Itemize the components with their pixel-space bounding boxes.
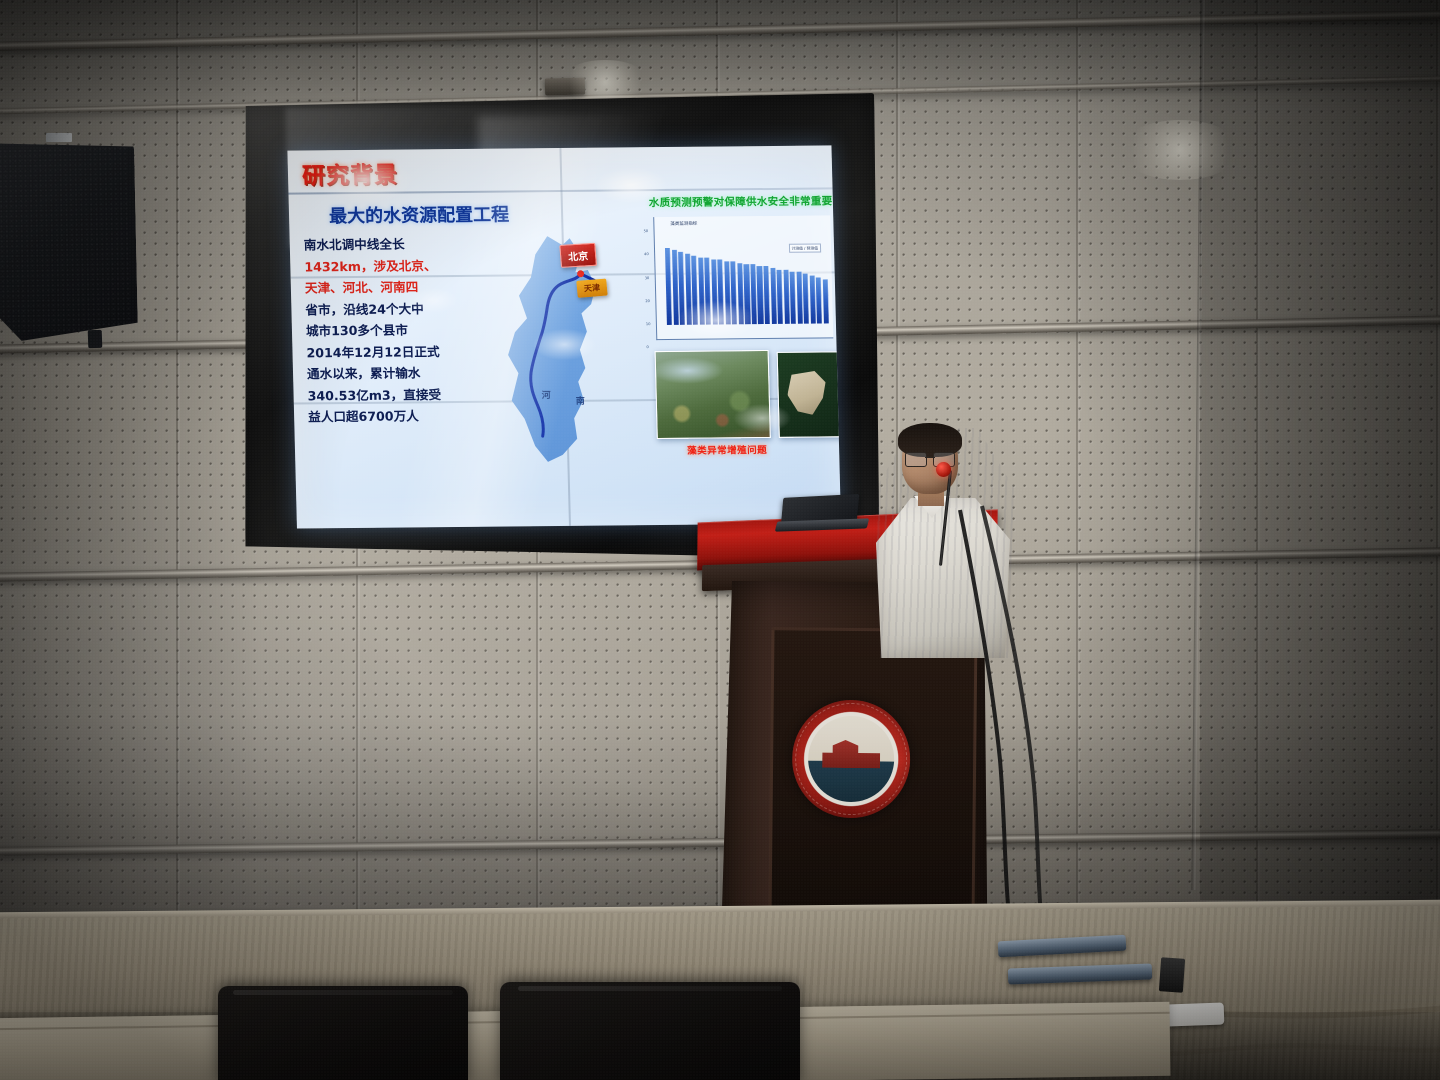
chart-heading: 水质预测预警对保障供水安全非常重要 [649,193,839,210]
chart-bar [790,272,796,324]
slide-subtitle: 最大的水资源配置工程 [329,201,510,229]
glasses-bridge [925,457,935,458]
algae-field-photo [655,350,771,439]
chart-bar [816,277,822,323]
body-line: 通水以来，累计输水 [307,362,504,385]
body-line: 天津、河北、河南四 [305,276,502,299]
chart-y-tick: 10 [646,322,651,326]
power-plug [1159,957,1185,993]
wall-speaker [0,141,138,342]
chart-bar [763,266,770,324]
presentation-photo-scene: 研究背景 最大的水资源配置工程 南水北调中线全长 1432km，涉及北京、 天津… [0,0,1440,1080]
chart-y-tick: 20 [645,299,650,303]
speaker-brand-logo [46,133,72,142]
chart-y-tick: 40 [644,253,649,257]
body-line: 1432km，涉及北京、 [304,254,501,277]
chart-inner-title: 藻类监测指标 [670,221,697,227]
projection-display: 研究背景 最大的水资源配置工程 南水北调中线全长 1432km，涉及北京、 天津… [234,93,886,565]
ceiling-fixture [545,78,585,96]
chart-y-tick: 50 [644,229,649,233]
map-landmass [498,235,628,464]
chart-bar [809,276,815,324]
speaker-grille [0,147,132,336]
body-line: 南水北调中线全长 [304,233,501,256]
map-label-hebei: 河 [541,388,550,401]
audience-chair [500,982,800,1080]
chart-y-axis: 50403020100 [654,215,830,217]
map-label-beijing: 北京 [559,243,597,268]
chair-highlight [233,990,453,995]
slide-body-text: 南水北调中线全长 1432km，涉及北京、 天津、河北、河南四 省市，沿线24个… [304,233,505,428]
speaker-wall-mount [88,330,103,348]
emblem-building-icon [822,740,880,769]
body-line: 城市130多个县市 [306,319,503,342]
chair-highlight [518,986,782,991]
chart-bar [711,259,718,324]
chart-bar [770,268,777,324]
presentation-slide: 研究背景 最大的水资源配置工程 南水北调中线全长 1432km，涉及北京、 天津… [287,145,841,528]
slide-title: 研究背景 [301,155,398,190]
wall-right-shading [1200,0,1440,900]
chart-bar [757,266,764,324]
chart-bar [750,265,757,325]
chart-bar [731,261,738,324]
chart-bar [724,261,731,324]
emblem-center [808,716,895,803]
route-map-graphic: 北京 天津 河 南 [489,225,635,476]
university-emblem [792,699,911,818]
chart-bar [823,279,829,323]
chart-bar [777,270,784,324]
body-line: 340.53亿m3，直接受 [307,383,504,406]
map-label-henan: 南 [576,394,585,407]
chart-y-tick: 30 [645,276,650,280]
chart-bar [718,259,725,324]
bar-chart: 藻类监测指标 计测值 / 预测值 50403020100 [653,215,833,340]
chart-bar [737,263,744,324]
body-line: 省市，沿线24个大中 [305,297,502,320]
body-line: 益人口超6700万人 [308,405,505,428]
photo-caption: 藻类异常增殖问题 [687,442,767,457]
body-line: 2014年12月12日正式 [306,340,503,363]
chart-bar [796,272,802,324]
chart-bar [783,270,790,324]
microphone-head [936,462,951,477]
chart-bars-container [665,227,829,325]
audience-chair [218,986,468,1080]
water-quality-chart-panel: 水质预测预警对保障供水安全非常重要 藻类监测指标 计测值 / 预测值 50403… [647,193,837,345]
glasses-lens-left [905,452,927,467]
chart-bar [744,265,751,325]
map-label-tianjin: 天津 [576,279,607,298]
satellite-algae-photo [777,351,841,438]
chart-y-tick: 0 [646,345,648,349]
chart-bar [803,274,809,324]
